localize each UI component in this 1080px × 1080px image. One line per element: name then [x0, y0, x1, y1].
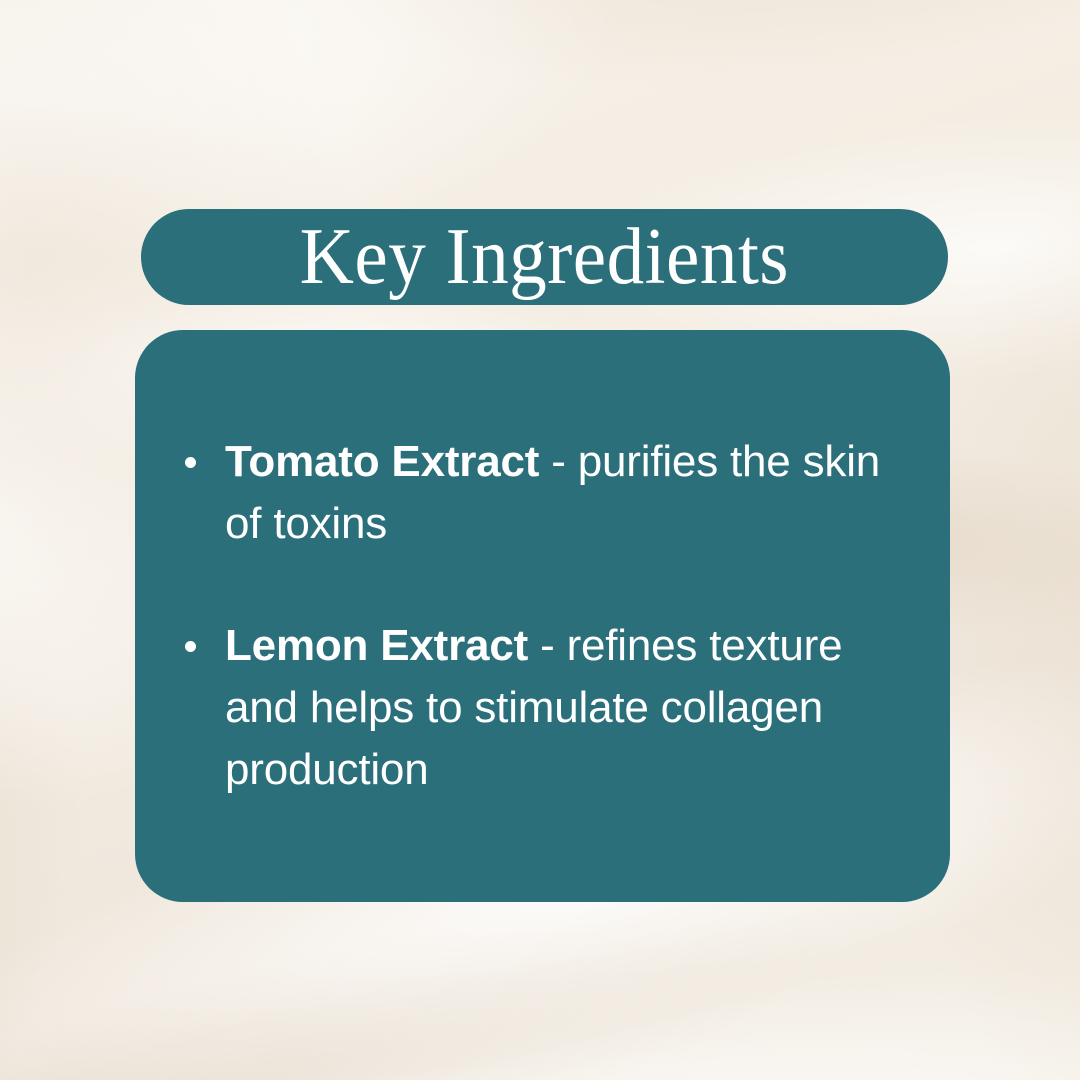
list-item: Tomato Extract - purifies the skin of to…: [180, 431, 905, 555]
ingredient-name: Tomato Extract: [225, 437, 539, 486]
bullet-dot-icon: [185, 641, 196, 652]
list-item: Lemon Extract - refines texture and help…: [180, 615, 905, 801]
bullet-dot-icon: [185, 457, 196, 468]
ingredient-name: Lemon Extract: [225, 621, 528, 670]
ingredients-card: Tomato Extract - purifies the skin of to…: [135, 330, 950, 902]
ingredient-separator: -: [528, 621, 567, 670]
title-banner: Key Ingredients: [141, 209, 948, 305]
ingredient-separator: -: [539, 437, 578, 486]
ingredients-list: Tomato Extract - purifies the skin of to…: [180, 431, 905, 801]
page-title: Key Ingredients: [300, 217, 789, 297]
slide-canvas: Key Ingredients Tomato Extract - purifie…: [0, 0, 1080, 1080]
